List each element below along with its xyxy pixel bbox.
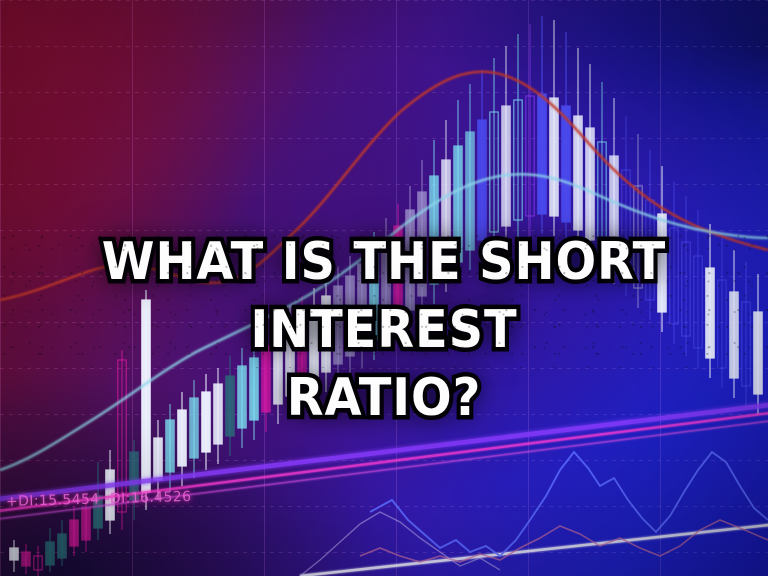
- vignette-overlay: [0, 0, 768, 576]
- thumbnail-canvas: +DI:15.5454 -DI:16.4526 WHAT IS THE SHOR…: [0, 0, 768, 576]
